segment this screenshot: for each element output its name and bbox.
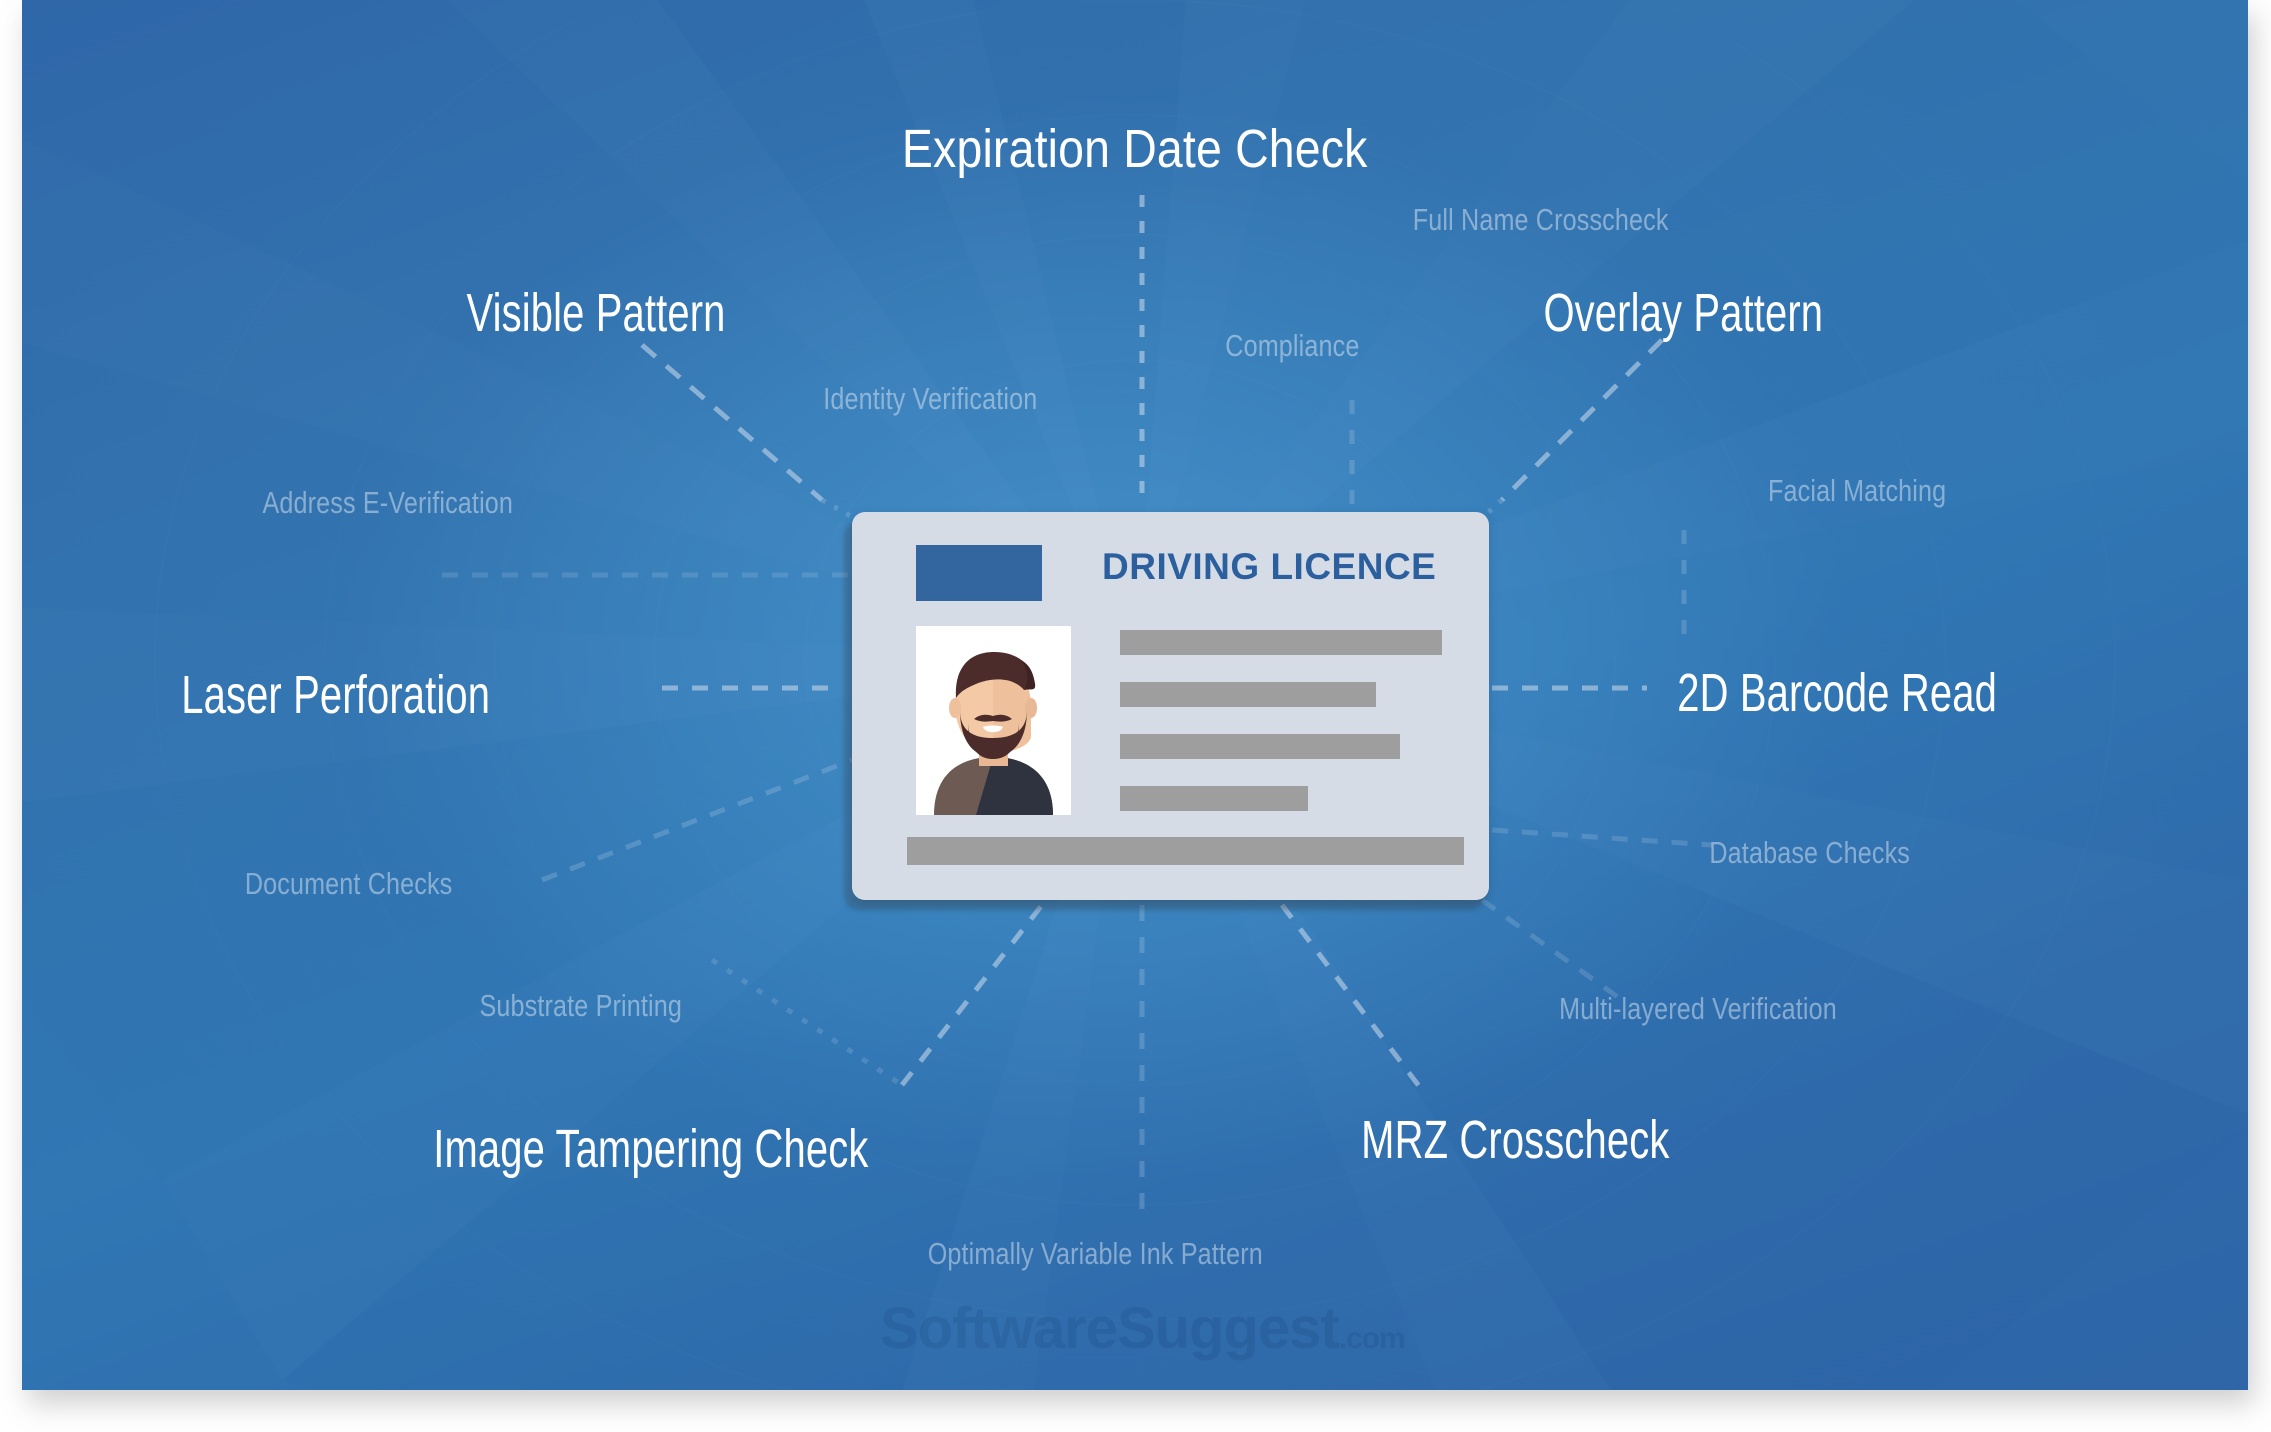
portrait-illustration bbox=[916, 626, 1071, 815]
watermark-softwaresuggest: SoftwareSuggest.com bbox=[880, 1300, 1405, 1358]
label-2d-barcode-read: 2D Barcode Read bbox=[1677, 666, 2049, 720]
infographic-stage: Expiration Date Check Visible Pattern Ov… bbox=[0, 0, 2271, 1432]
driving-licence-card: DRIVING LICENCE bbox=[844, 512, 1489, 908]
label-compliance: Compliance bbox=[1225, 330, 1374, 361]
label-visible-pattern: Visible Pattern bbox=[467, 286, 768, 340]
card-field-bar-4 bbox=[1120, 786, 1308, 811]
card-flag-emblem bbox=[916, 545, 1042, 601]
label-address-e-verification: Address E-Verification bbox=[262, 487, 540, 518]
label-expiration-date-check: Expiration Date Check bbox=[22, 122, 2248, 176]
label-image-tampering-check: Image Tampering Check bbox=[433, 1122, 939, 1176]
label-optimally-variable-ink-pattern: Optimally Variable Ink Pattern bbox=[928, 1238, 1300, 1269]
card-field-bar-3 bbox=[1120, 734, 1400, 759]
connector-document-checks bbox=[542, 760, 852, 880]
card-portrait-photo bbox=[916, 626, 1071, 815]
label-overlay-pattern: Overlay Pattern bbox=[1543, 286, 1868, 340]
watermark-suffix: .com bbox=[1339, 1322, 1405, 1355]
card-field-bar-1 bbox=[1120, 630, 1442, 655]
card-face: DRIVING LICENCE bbox=[852, 512, 1489, 900]
label-full-name-crosscheck: Full Name Crosscheck bbox=[1413, 204, 1697, 235]
connector-substrate-printing bbox=[712, 960, 902, 1085]
label-document-checks: Document Checks bbox=[245, 868, 476, 899]
label-mrz-crosscheck: MRZ Crosscheck bbox=[1361, 1113, 1719, 1167]
connector-mrz-crosscheck bbox=[1282, 905, 1422, 1090]
label-facial-matching: Facial Matching bbox=[1768, 475, 1966, 506]
connector-visible-pattern bbox=[642, 345, 822, 500]
label-database-checks: Database Checks bbox=[1709, 837, 1932, 868]
label-multi-layered-verification: Multi-layered Verification bbox=[1559, 993, 1868, 1024]
infographic-panel: Expiration Date Check Visible Pattern Ov… bbox=[22, 0, 2248, 1390]
label-laser-perforation: Laser Perforation bbox=[181, 668, 540, 722]
card-title: DRIVING LICENCE bbox=[1102, 548, 1436, 585]
connector-database-checks bbox=[1492, 830, 1712, 845]
connector-multi-layered-verification bbox=[1482, 900, 1622, 1000]
label-identity-verification: Identity Verification bbox=[823, 383, 1061, 414]
card-field-bar-2 bbox=[1120, 682, 1376, 707]
watermark-brand: SoftwareSuggest bbox=[880, 1296, 1339, 1361]
label-substrate-printing: Substrate Printing bbox=[480, 990, 705, 1021]
connector-overlay-pattern bbox=[1502, 340, 1662, 500]
connector-image-tampering-check bbox=[902, 905, 1042, 1085]
card-mrz-bar bbox=[907, 837, 1464, 865]
